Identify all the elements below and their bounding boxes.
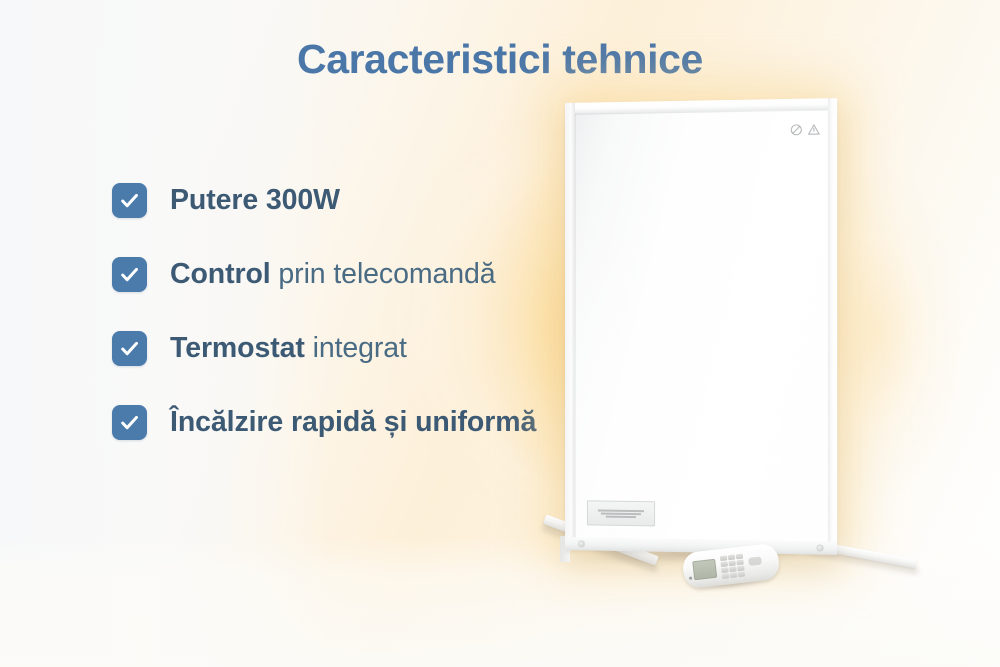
feature-item: Încălzire rapidă și uniformă	[112, 385, 592, 459]
panel-screw	[817, 545, 822, 550]
panel-frame-left	[565, 103, 575, 550]
do-not-cover-icon	[790, 123, 803, 136]
rating-label-line	[606, 515, 636, 517]
remote-key	[736, 554, 743, 560]
feature-label-normal: integrat	[305, 332, 407, 364]
feature-label: Control prin telecomandă	[170, 258, 495, 291]
remote-brand-mark	[748, 557, 762, 566]
panel-sheen	[575, 109, 828, 541]
page-title: Caracteristici tehnice	[0, 36, 1000, 83]
remote-key	[730, 573, 737, 579]
remote-ir-emitter	[689, 577, 692, 580]
remote-key	[729, 561, 736, 567]
remote-key	[737, 566, 744, 572]
feature-item: Putere 300W	[112, 163, 592, 237]
remote-key	[738, 572, 745, 578]
feature-label-normal: prin telecomandă	[271, 258, 496, 290]
feature-label-bold: Termostat	[170, 332, 305, 364]
remote-key	[729, 567, 736, 573]
heating-panel	[565, 98, 837, 555]
panel-screw	[579, 541, 584, 546]
remote-key	[721, 561, 728, 567]
feature-label: Termostat integrat	[170, 332, 407, 365]
remote-key	[722, 573, 729, 579]
feature-label-bold: Putere 300W	[170, 184, 340, 216]
checkbox-checked-icon	[112, 183, 147, 218]
remote-lcd-screen	[692, 559, 717, 580]
feature-label-bold: Încălzire rapidă și uniformă	[170, 406, 536, 438]
remote-key	[728, 555, 735, 561]
warning-triangle-icon	[807, 123, 820, 136]
rating-label	[587, 500, 655, 526]
panel-face	[575, 109, 828, 541]
feature-item: Termostat integrat	[112, 311, 592, 385]
panel-frame-right	[828, 98, 837, 555]
feature-label: Încălzire rapidă și uniformă	[170, 406, 536, 439]
remote-key	[720, 555, 727, 561]
feature-label: Putere 300W	[170, 184, 340, 217]
panel-safety-icons	[790, 123, 821, 137]
remote-key	[737, 560, 744, 566]
remote-key	[721, 567, 728, 573]
remote-keypad	[720, 554, 745, 579]
checkbox-checked-icon	[112, 405, 147, 440]
feature-item: Control prin telecomandă	[112, 237, 592, 311]
checkbox-checked-icon	[112, 257, 147, 292]
feature-list: Putere 300W Control prin telecomandă Ter…	[112, 163, 592, 459]
checkbox-checked-icon	[112, 331, 147, 366]
infographic-canvas: Caracteristici tehnice Putere 300W Contr…	[0, 0, 1000, 667]
feature-label-bold: Control	[170, 258, 271, 290]
